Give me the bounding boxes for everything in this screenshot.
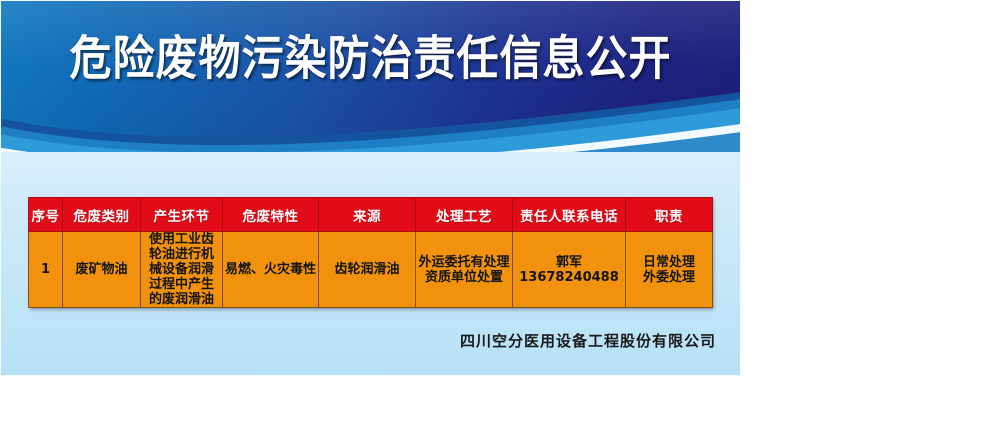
cell-responsible-contact: 郭军13678240488 [513,232,626,308]
column-header-source: 来源 [319,198,416,232]
cell-source: 齿轮润滑油 [319,232,416,308]
column-header-category: 危废类别 [63,198,141,232]
cell-index: 1 [29,232,63,308]
cell-treatment-process: 外运委托有处理资质单位处置 [416,232,513,308]
cell-category: 废矿物油 [63,232,141,308]
column-header-index: 序号 [29,198,63,232]
cell-hazard-property: 易燃、火灾毒性 [223,232,319,308]
hazardous-waste-table: 序号 危废类别 产生环节 危废特性 来源 处理工艺 责任人联系电话 职责 1 废… [28,197,713,308]
column-header-generation-stage: 产生环节 [141,198,223,232]
poster-header-band: 危险废物污染防治责任信息公开 [0,0,741,152]
company-name-text: 四川空分医用设备工程股份有限公司 [460,332,716,350]
column-header-hazard-property: 危废特性 [223,198,319,232]
hazardous-waste-table-container: 序号 危废类别 产生环节 危废特性 来源 处理工艺 责任人联系电话 职责 1 废… [28,197,712,308]
table-header-row: 序号 危废类别 产生环节 危废特性 来源 处理工艺 责任人联系电话 职责 [29,198,713,232]
table-row: 1 废矿物油 使用工业齿轮油进行机械设备润滑过程中产生的废润滑油 易燃、火灾毒性… [29,232,713,308]
company-name-footer: 四川空分医用设备工程股份有限公司 [0,330,716,351]
column-header-treatment-process: 处理工艺 [416,198,513,232]
column-header-responsible-phone: 责任人联系电话 [513,198,626,232]
information-disclosure-poster: 危险废物污染防治责任信息公开 序号 危废类别 产生环节 危废特性 来源 处理工艺… [0,0,741,376]
cell-generation-stage: 使用工业齿轮油进行机械设备润滑过程中产生的废润滑油 [141,232,223,308]
page-title-text: 危险废物污染防治责任信息公开 [69,35,671,82]
cell-duty: 日常处理外委处理 [626,232,713,308]
page-title: 危险废物污染防治责任信息公开 [0,0,741,118]
column-header-duty: 职责 [626,198,713,232]
